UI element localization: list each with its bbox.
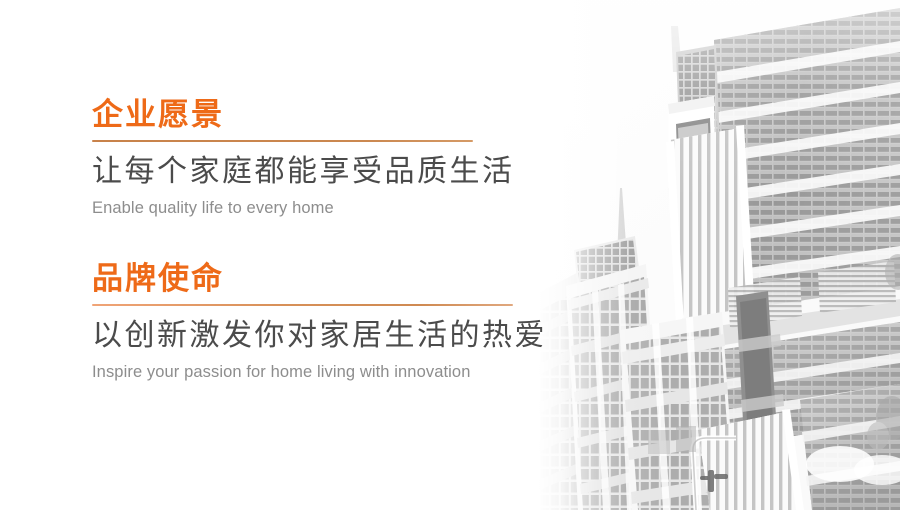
mission-subtitle-en: Inspire your passion for home living wit… — [92, 362, 547, 383]
vision-title: 企业愿景 — [92, 98, 515, 131]
vision-block: 企业愿景 让每个家庭都能享受品质生活 Enable quality life t… — [92, 98, 515, 219]
vision-subtitle-en: Enable quality life to every home — [92, 198, 515, 219]
mission-divider — [92, 304, 513, 306]
banner-canvas: 企业愿景 让每个家庭都能享受品质生活 Enable quality life t… — [0, 0, 900, 510]
vision-headline-cn: 让每个家庭都能享受品质生活 — [92, 154, 515, 190]
vision-divider — [92, 140, 473, 142]
building-photo — [500, 0, 900, 510]
mission-block: 品牌使命 以创新激发你对家居生活的热爱 Inspire your passion… — [92, 262, 547, 383]
mission-title: 品牌使命 — [92, 262, 547, 295]
mission-headline-cn: 以创新激发你对家居生活的热爱 — [92, 318, 547, 354]
building-photo-illustration — [500, 0, 900, 510]
